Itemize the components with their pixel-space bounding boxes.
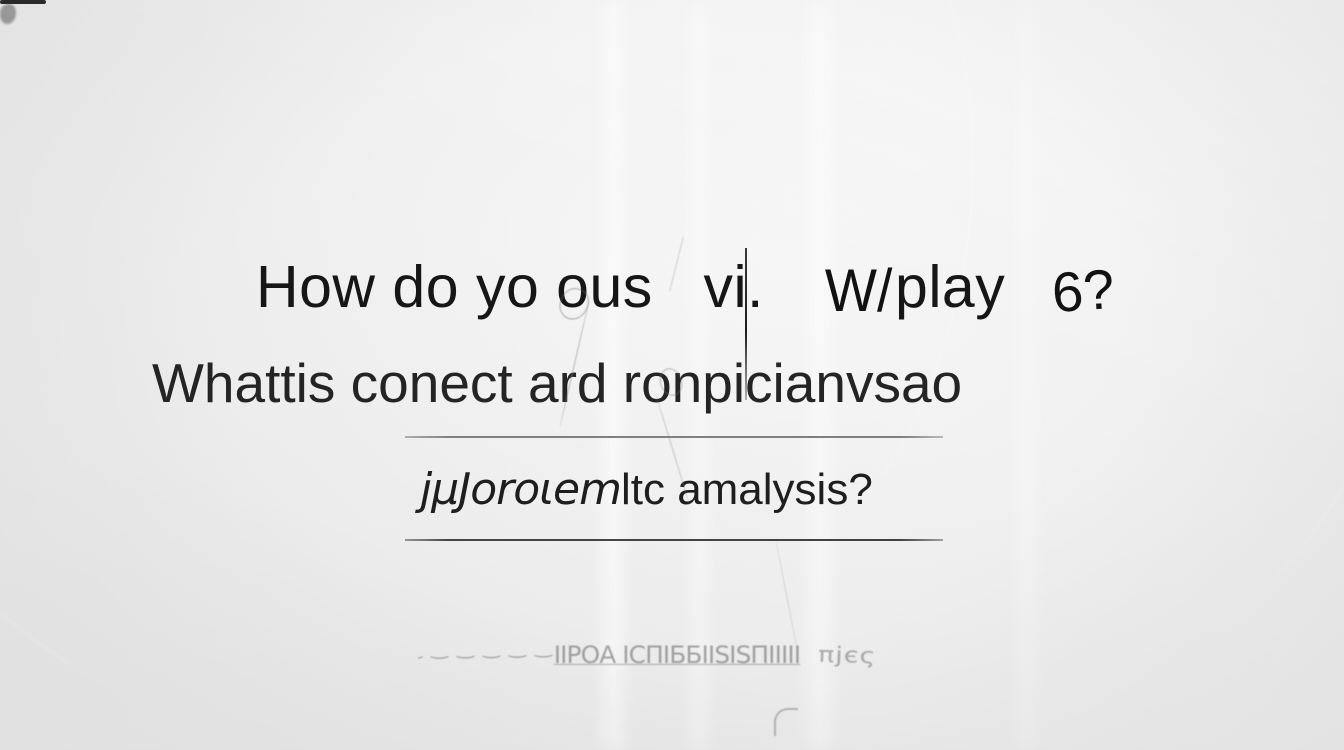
ink-blob-icon: [0, 4, 16, 24]
question-line-3: jμJoroιemltc amalysis?: [420, 468, 873, 512]
question-line-3-end: amalysis?: [677, 465, 873, 514]
footer-scribble-mid: ӀІРОА ІСПІББӀІЅІЅПӀІІӀӀ: [553, 638, 800, 673]
question-line-3-mid: ltc: [621, 465, 665, 514]
question-line-1-digit: 6?: [1050, 256, 1117, 325]
overlapping-w-glyph: W/: [825, 256, 892, 325]
hook-stroke-icon: [774, 708, 798, 736]
divider-rule-lower: [405, 539, 943, 541]
question-text-block: How do yo ous vi. W/ play 6? Whattis con…: [0, 0, 1344, 750]
question-line-1-tail: play: [895, 258, 1005, 317]
footer-illegible-text: ⌣⌣⌣⌣⌣⌣ӀІРОА ІСПІББӀІЅІЅПӀІІӀӀ πјєς: [418, 636, 938, 676]
footer-scribble-right: πјєς: [817, 639, 877, 673]
question-line-2: Whattis conect ard ronpicianvsao: [152, 356, 962, 411]
slide-canvas: How do yo ous vi. W/ play 6? Whattis con…: [0, 0, 1344, 750]
filament-strand-icon: [775, 541, 797, 650]
question-line-1: How do yo ous vi.: [256, 258, 764, 317]
divider-rule-upper: [405, 436, 943, 438]
footer-scribble-left: ⌣⌣⌣⌣⌣⌣: [418, 643, 559, 670]
question-line-3-end-spacer: [665, 465, 677, 514]
question-line-3-italic: jμJoroιem: [420, 464, 621, 515]
